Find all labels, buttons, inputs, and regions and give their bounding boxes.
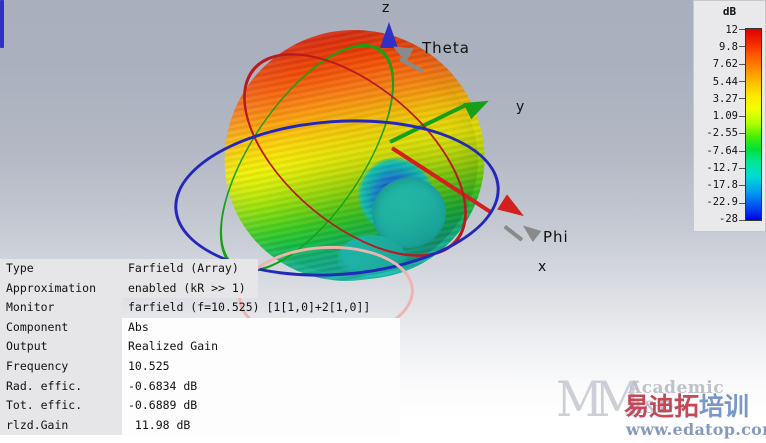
info-key: Monitor — [0, 298, 122, 318]
table-row: Output Realized Gain — [0, 337, 422, 357]
legend-tick: 9.8 — [719, 42, 738, 53]
legend-tick: -7.64 — [706, 146, 738, 157]
farfield-3d-plot-window: z y x Theta Phi dB 12 9.8 7.62 5.44 3.27… — [0, 0, 766, 443]
legend-body: 12 9.8 7.62 5.44 3.27 1.09 -2.55 -7.64 -… — [694, 23, 765, 227]
watermark-cn-red: 易迪拓 — [624, 392, 699, 421]
watermark-url: www.edatop.com — [626, 420, 766, 439]
legend-tick: -12.7 — [706, 163, 738, 174]
info-key: Approximation — [0, 279, 122, 299]
info-value: Abs — [122, 318, 400, 338]
theta-label: Theta — [422, 39, 470, 57]
table-row: rlzd.Gain 11.98 dB — [0, 416, 422, 436]
legend-tick: 12 — [725, 25, 738, 36]
info-value: 11.98 dB — [122, 416, 400, 436]
x-axis-arrowhead — [497, 194, 529, 223]
watermark-chinese-text: 易迪拓培训 — [624, 394, 749, 419]
table-row: Component Abs — [0, 318, 422, 338]
z-axis-line — [0, 0, 4, 48]
watermark-cn-blue: 培训 — [699, 392, 749, 421]
phi-label: Phi — [543, 228, 569, 246]
y-axis-label: y — [516, 99, 524, 115]
legend-tick: 3.27 — [713, 94, 738, 105]
info-value: farfield (f=10.525) [1[1,0]+2[1,0]] — [122, 298, 422, 318]
farfield-info-table: Type Farfield (Array) Approximation enab… — [0, 259, 422, 435]
info-key: rlzd.Gain — [0, 416, 122, 436]
table-row: Type Farfield (Array) — [0, 259, 422, 279]
color-legend[interactable]: dB 12 9.8 7.62 5.44 3.27 1.09 -2.55 -7.6… — [693, 0, 766, 232]
table-row: Tot. effic. -0.6889 dB — [0, 396, 422, 416]
legend-tick: -22.9 — [706, 197, 738, 208]
info-value: Farfield (Array) — [122, 259, 258, 279]
watermark: MM Academic R&D 易迪拓培训 www.edatop.com — [556, 374, 766, 436]
info-key: Type — [0, 259, 122, 279]
table-row: Monitor farfield (f=10.525) [1[1,0]+2[1,… — [0, 298, 422, 318]
legend-tick: 1.09 — [713, 111, 738, 122]
info-value: Realized Gain — [122, 337, 400, 357]
info-value: enabled (kR >> 1) — [122, 279, 258, 299]
legend-color-bar — [745, 28, 762, 221]
info-key: Output — [0, 337, 122, 357]
legend-tick: 5.44 — [713, 77, 738, 88]
table-row: Frequency 10.525 — [0, 357, 422, 377]
info-value: -0.6834 dB — [122, 377, 400, 397]
info-value: 10.525 — [122, 357, 400, 377]
table-row: Rad. effic. -0.6834 dB — [0, 377, 422, 397]
legend-tick: 7.62 — [713, 59, 738, 70]
info-key: Rad. effic. — [0, 377, 122, 397]
info-key: Frequency — [0, 357, 122, 377]
table-row: Approximation enabled (kR >> 1) — [0, 279, 422, 299]
legend-tick-labels: 12 9.8 7.62 5.44 3.27 1.09 -2.55 -7.64 -… — [694, 23, 738, 227]
legend-tick: -17.8 — [706, 180, 738, 191]
info-key: Tot. effic. — [0, 396, 122, 416]
watermark-monogram-icon: MM — [556, 375, 632, 423]
info-key: Component — [0, 318, 122, 338]
info-value: -0.6889 dB — [122, 396, 400, 416]
legend-unit-label: dB — [694, 5, 765, 18]
z-axis-label: z — [382, 0, 389, 16]
x-axis-label: x — [538, 259, 546, 275]
legend-tick: -2.55 — [706, 128, 738, 139]
legend-tick: -28 — [719, 214, 738, 225]
